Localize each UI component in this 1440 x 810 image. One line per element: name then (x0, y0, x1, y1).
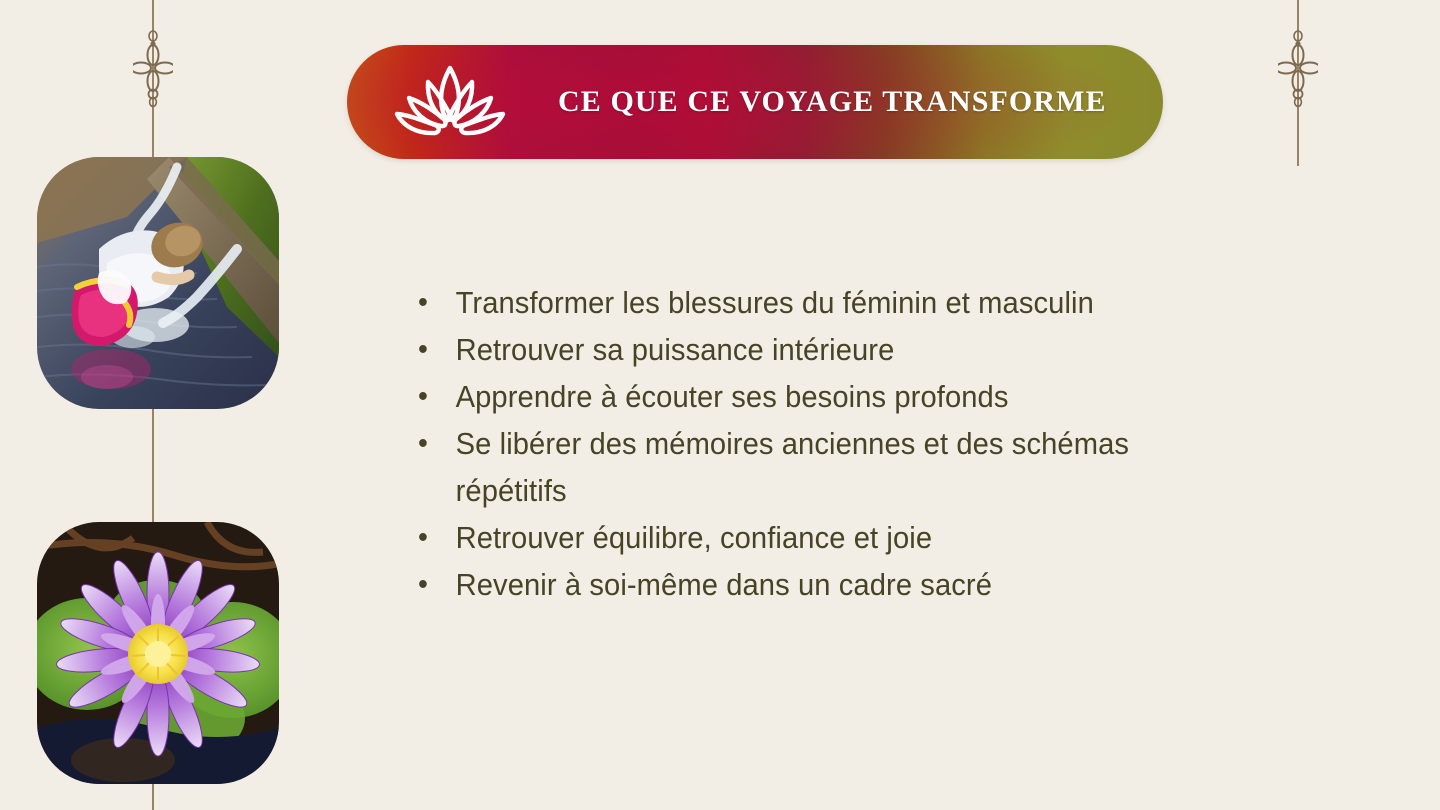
quatrefoil-divider-icon (1278, 0, 1318, 170)
bullet-marker: • (418, 514, 456, 561)
list-item-label: Apprendre à écouter ses besoins profonds (456, 373, 1180, 420)
page-title: CE QUE CE VOYAGE TRANSFORME (558, 85, 1107, 119)
photo-lotus (37, 522, 279, 784)
photo-stream-image (37, 157, 279, 409)
list-item-label: Retrouver sa puissance intérieure (456, 326, 1180, 373)
header-banner: CE QUE CE VOYAGE TRANSFORME (347, 45, 1163, 159)
bullet-list: • Transformer les blessures du féminin e… (418, 279, 1228, 608)
list-item: • Revenir à soi-même dans un cadre sacré (418, 561, 1179, 608)
list-item-label: Se libérer des mémoires anciennes et des… (456, 420, 1180, 514)
bullet-marker: • (418, 279, 456, 326)
list-item-label: Transformer les blessures du féminin et … (456, 279, 1180, 326)
bullet-marker: • (418, 373, 456, 420)
list-item: • Se libérer des mémoires anciennes et d… (418, 420, 1179, 514)
list-item-label: Revenir à soi-même dans un cadre sacré (456, 561, 1180, 608)
photo-lotus-image (37, 522, 279, 784)
list-item: • Retrouver équilibre, confiance et joie (418, 514, 1179, 561)
list-item: • Transformer les blessures du féminin e… (418, 279, 1179, 326)
ornament-right (1278, 0, 1318, 170)
list-item: • Retrouver sa puissance intérieure (418, 326, 1179, 373)
lotus-icon (390, 59, 510, 145)
lotus-icon-glyph (391, 60, 509, 144)
bullet-marker: • (418, 561, 456, 608)
list-item-label: Retrouver équilibre, confiance et joie (456, 514, 1180, 561)
slide-canvas: CE QUE CE VOYAGE TRANSFORME • Transforme… (0, 0, 1440, 810)
bullet-marker: • (418, 326, 456, 373)
list-item: • Apprendre à écouter ses besoins profon… (418, 373, 1179, 420)
bullet-marker: • (418, 420, 456, 467)
photo-stream (37, 157, 279, 409)
